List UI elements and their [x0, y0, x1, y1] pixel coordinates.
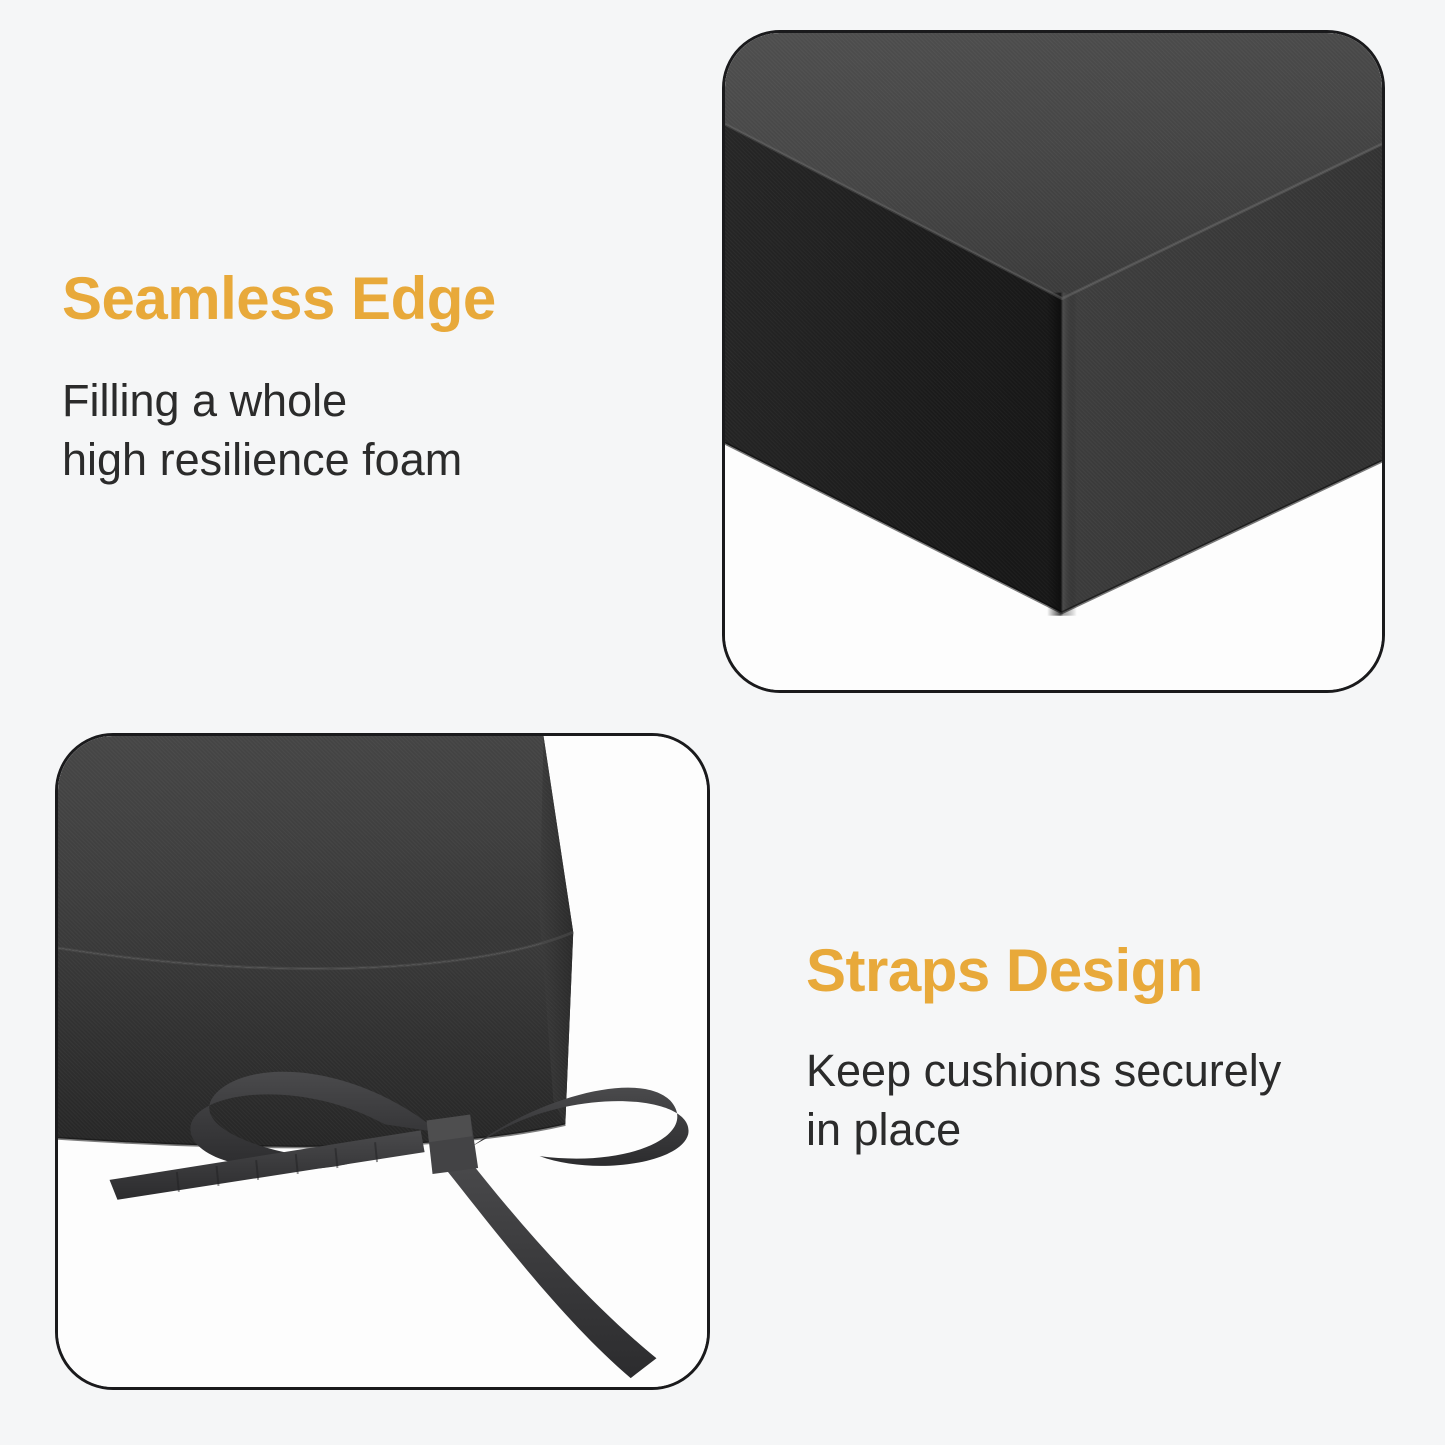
- feature-description-line: in place: [806, 1101, 1386, 1160]
- feature-title-seamless-edge: Seamless Edge: [62, 268, 682, 330]
- feature-description-line: Keep cushions securely: [806, 1042, 1386, 1101]
- infographic-canvas: Seamless Edge Filling a whole high resil…: [0, 0, 1445, 1445]
- feature-image-panel-straps-design: [55, 733, 710, 1390]
- cushion-corner-illustration: [725, 33, 1382, 690]
- feature-description-straps-design: Keep cushions securely in place: [806, 1042, 1386, 1159]
- feature-image-panel-seamless-edge: [722, 30, 1385, 693]
- feature-description-line: Filling a whole: [62, 372, 682, 431]
- feature-text-straps-design: Straps Design Keep cushions securely in …: [806, 940, 1386, 1159]
- feature-text-seamless-edge: Seamless Edge Filling a whole high resil…: [62, 268, 682, 489]
- cushion-strap-illustration: [58, 736, 707, 1387]
- feature-description-seamless-edge: Filling a whole high resilience foam: [62, 372, 682, 489]
- feature-description-line: high resilience foam: [62, 431, 682, 490]
- feature-title-straps-design: Straps Design: [806, 940, 1386, 1002]
